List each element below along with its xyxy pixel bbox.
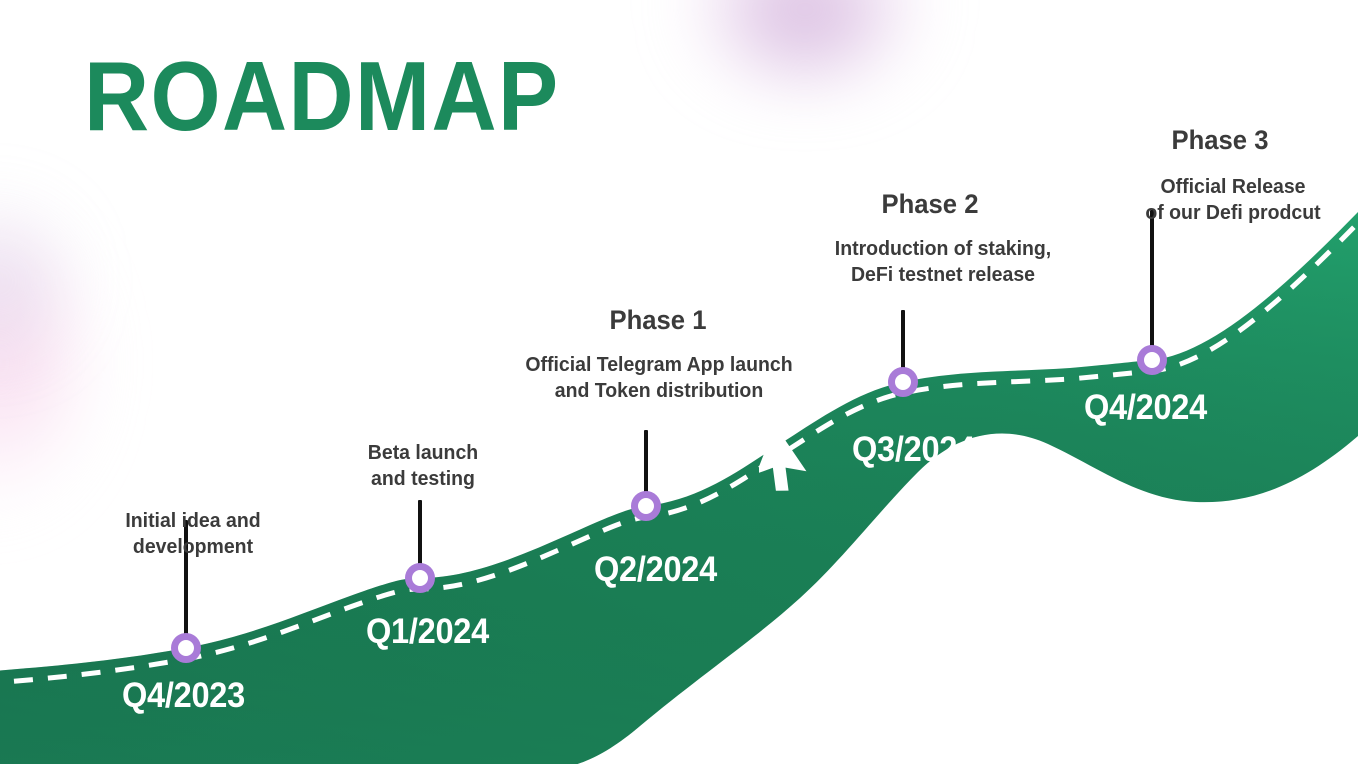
- milestone-dot-icon[interactable]: [405, 563, 435, 593]
- milestone-description: Introduction of staking, DeFi testnet re…: [786, 236, 1100, 288]
- milestone-phase-label: Phase 3: [1097, 126, 1344, 156]
- milestone-dot-icon[interactable]: [888, 367, 918, 397]
- roadmap-infographic: ROADMAP Initial idea and developmentQ4/2…: [0, 0, 1358, 764]
- milestone-quarter-label: Q4/2024: [1084, 390, 1207, 425]
- milestone-stem: [1150, 210, 1154, 360]
- milestone-description: Official Release of our Defi prodcut: [1076, 174, 1358, 226]
- page-title: ROADMAP: [84, 47, 559, 145]
- milestone-quarter-label: Q3/2024: [852, 432, 975, 467]
- milestone-dot-icon[interactable]: [1137, 345, 1167, 375]
- milestone-description: Initial idea and development: [74, 508, 312, 560]
- milestone-quarter-label: Q1/2024: [366, 614, 489, 649]
- milestone-description: Official Telegram App launch and Token d…: [502, 352, 816, 404]
- milestone-quarter-label: Q4/2023: [122, 678, 245, 713]
- milestone-dot-icon[interactable]: [631, 491, 661, 521]
- milestone-dot-icon[interactable]: [171, 633, 201, 663]
- cursor-arrow-icon: [759, 427, 817, 493]
- milestone-description: Beta launch and testing: [304, 440, 542, 492]
- milestone-quarter-label: Q2/2024: [594, 552, 717, 587]
- milestone-phase-label: Phase 2: [807, 190, 1054, 220]
- milestone-phase-label: Phase 1: [535, 306, 782, 336]
